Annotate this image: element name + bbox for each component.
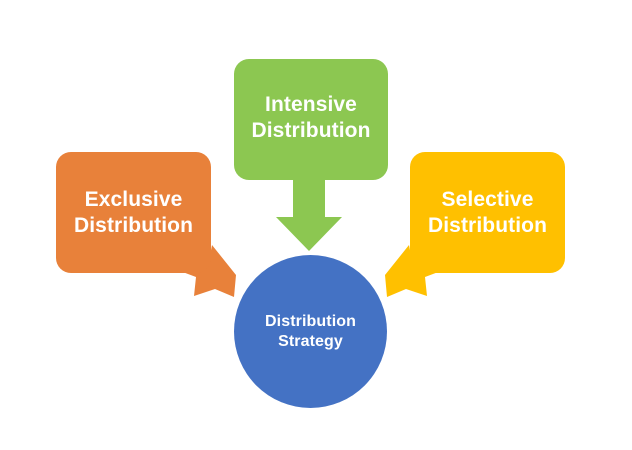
node-distribution-strategy-label: Distribution Strategy [265,312,356,351]
node-selective-distribution-label: Selective Distribution [428,187,547,238]
node-intensive-distribution[interactable]: Intensive Distribution [234,59,388,180]
node-exclusive-distribution[interactable]: Exclusive Distribution [56,152,211,273]
diagram-canvas: Intensive Distribution Exclusive Distrib… [0,0,632,450]
down-arrow-icon-intensive [276,172,342,251]
node-intensive-distribution-label: Intensive Distribution [251,92,370,143]
node-distribution-strategy[interactable]: Distribution Strategy [234,255,387,408]
node-selective-distribution[interactable]: Selective Distribution [410,152,565,273]
node-exclusive-distribution-label: Exclusive Distribution [74,187,193,238]
